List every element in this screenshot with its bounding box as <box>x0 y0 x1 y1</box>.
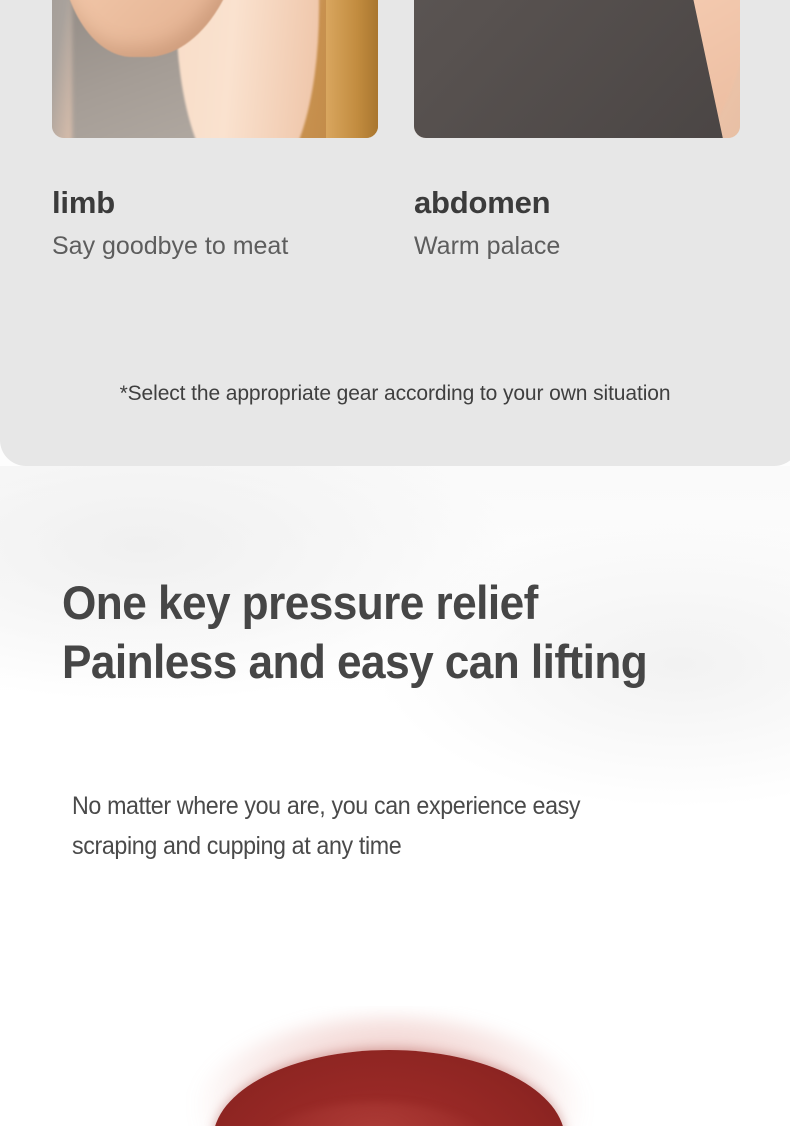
caption-title-abdomen: abdomen <box>414 186 560 220</box>
card-image-limb <box>52 0 378 138</box>
limb-cupping-photo <box>52 0 378 138</box>
photo-legging <box>414 0 726 138</box>
feature-card-images <box>0 0 790 138</box>
gear-selection-note: *Select the appropriate gear according t… <box>0 382 790 406</box>
feature-captions: limb Say goodbye to meat abdomen Warm pa… <box>0 186 790 261</box>
caption-limb: limb Say goodbye to meat <box>52 186 414 261</box>
headline-line-2: Painless and easy can lifting <box>62 632 647 691</box>
caption-abdomen: abdomen Warm palace <box>414 186 560 261</box>
section-subcopy: No matter where you are, you can experie… <box>72 786 580 866</box>
section-headline: One key pressure relief Painless and eas… <box>62 573 647 691</box>
card-image-abdomen <box>414 0 740 138</box>
caption-title-limb: limb <box>52 186 414 220</box>
caption-subtitle-limb: Say goodbye to meat <box>52 232 414 261</box>
subcopy-line-1: No matter where you are, you can experie… <box>72 786 580 826</box>
subcopy-line-2: scraping and cupping at any time <box>72 826 580 866</box>
caption-subtitle-abdomen: Warm palace <box>414 232 560 261</box>
photo-background-wall <box>326 0 378 138</box>
product-detail-page: limb Say goodbye to meat abdomen Warm pa… <box>0 0 790 1126</box>
abdomen-cupping-photo <box>414 0 740 138</box>
headline-line-1: One key pressure relief <box>62 573 647 632</box>
